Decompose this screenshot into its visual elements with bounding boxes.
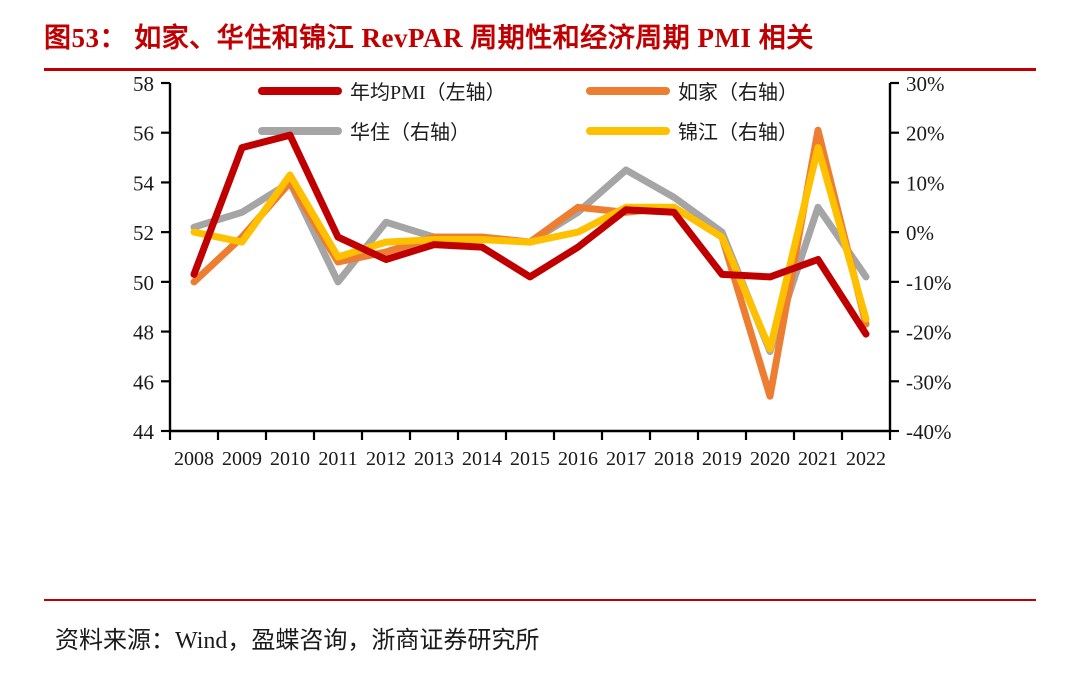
y-axis-left-tick-label: 56 — [133, 122, 154, 146]
legend-label: 华住（右轴） — [350, 121, 470, 144]
series-line-4 — [194, 148, 866, 349]
chart-legend: 年均PMI（左轴）如家（右轴）华住（右轴）锦江（右轴） — [262, 81, 798, 144]
y-axis-right-tick-label: 10% — [906, 172, 945, 196]
x-axis-tick-label: 2009 — [222, 448, 262, 470]
y-axis-left-tick-label: 54 — [133, 172, 155, 196]
series-line-1 — [194, 136, 866, 335]
y-axis-right-tick-label: 0% — [906, 222, 934, 246]
x-axis-tick-label: 2019 — [702, 448, 742, 470]
x-axis-tick-label: 2014 — [462, 448, 502, 470]
y-axis-right-tick-label: -20% — [906, 321, 952, 345]
legend-label: 年均PMI（左轴） — [350, 81, 506, 104]
x-axis-tick-label: 2015 — [510, 448, 550, 470]
legend-label: 如家（右轴） — [678, 81, 798, 104]
chart-container: 年均PMI（左轴）如家（右轴）华住（右轴）锦江（右轴） 444648505254… — [0, 71, 1080, 541]
chart-axes: 4446485052545658-40%-30%-20%-10%0%10%20%… — [133, 72, 952, 444]
footer-divider — [44, 599, 1036, 601]
x-axis-tick-label: 2008 — [174, 448, 214, 470]
x-axis-tick-label: 2011 — [318, 448, 357, 470]
y-axis-left-tick-label: 48 — [133, 321, 154, 345]
legend-item[interactable]: 锦江（右轴） — [590, 121, 798, 144]
chart-series — [194, 131, 866, 397]
source-note: 资料来源：Wind，盈蝶咨询，浙商证券研究所 — [55, 620, 539, 655]
line-chart: 年均PMI（左轴）如家（右轴）华住（右轴）锦江（右轴） 444648505254… — [0, 71, 1080, 541]
y-axis-right-tick-label: -10% — [906, 271, 952, 295]
x-axis-tick-label: 2022 — [846, 448, 886, 470]
x-axis-tick-label: 2016 — [558, 448, 598, 470]
y-axis-left-tick-label: 50 — [133, 271, 154, 295]
y-axis-left-tick-label: 44 — [133, 420, 155, 444]
y-axis-right-tick-label: 30% — [906, 72, 945, 96]
y-axis-left-tick-label: 46 — [133, 371, 154, 395]
x-axis-tick-label: 2018 — [654, 448, 694, 470]
legend-item[interactable]: 如家（右轴） — [590, 81, 798, 104]
x-axis-tick-label: 2013 — [414, 448, 454, 470]
y-axis-right-tick-label: -30% — [906, 371, 952, 395]
legend-item[interactable]: 年均PMI（左轴） — [262, 81, 506, 104]
page-title: 图53： 如家、华住和锦江 RevPAR 周期性和经济周期 PMI 相关 — [44, 22, 1036, 54]
x-axis-tick-label: 2012 — [366, 448, 406, 470]
y-axis-left-tick-label: 58 — [133, 72, 154, 96]
series-line-3 — [194, 170, 866, 352]
x-axis-tick-label: 2021 — [798, 448, 838, 470]
x-axis-tick-labels: 2008200920102011201220132014201520162017… — [174, 448, 886, 470]
x-axis-tick-label: 2010 — [270, 448, 310, 470]
y-axis-right-tick-label: -40% — [906, 420, 952, 444]
y-axis-right-tick-label: 20% — [906, 122, 945, 146]
x-axis-tick-label: 2017 — [606, 448, 646, 470]
series-line-2 — [194, 131, 866, 397]
x-axis-tick-label: 2020 — [750, 448, 790, 470]
legend-label: 锦江（右轴） — [678, 121, 798, 144]
y-axis-left-tick-label: 52 — [133, 222, 154, 246]
figure-header: 图53： 如家、华住和锦江 RevPAR 周期性和经济周期 PMI 相关 — [0, 0, 1080, 54]
figure-page: 图53： 如家、华住和锦江 RevPAR 周期性和经济周期 PMI 相关 年均P… — [0, 0, 1080, 683]
